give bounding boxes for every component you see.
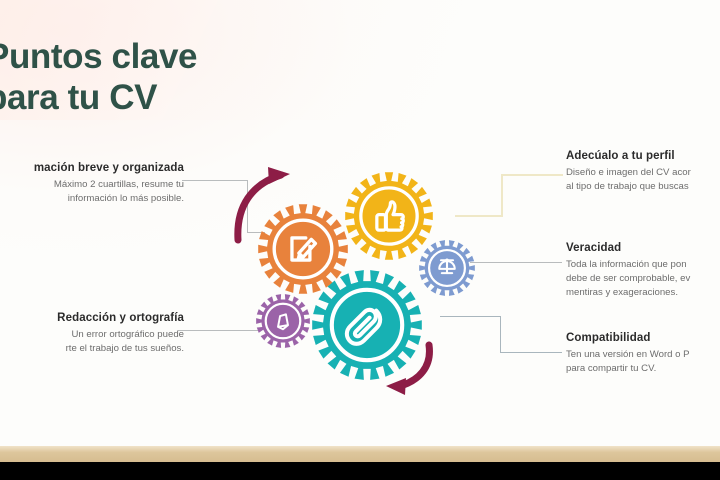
- gear-layer: [256, 172, 475, 380]
- text-block-perfil: Adecúalo a tu perfil Diseño e imagen del…: [566, 150, 720, 194]
- text-block-veracidad-heading: Veracidad: [566, 242, 720, 254]
- letterbox-bottom: [0, 462, 720, 480]
- gear-teal-paperclip[interactable]: [312, 270, 422, 380]
- text-block-perfil-heading: Adecúalo a tu perfil: [566, 150, 720, 162]
- text-block-veracidad-line2: debe de ser comprobable, ev: [566, 272, 720, 286]
- text-block-compatibilidad: Compatibilidad Ten una versión en Word o…: [566, 332, 720, 376]
- text-block-redaccion-heading: Redacción y ortografía: [0, 312, 184, 324]
- text-block-redaccion-line1: Un error ortográfico puede: [0, 328, 184, 342]
- text-block-informacion-heading: mación breve y organizada: [0, 162, 184, 174]
- text-block-informacion: mación breve y organizada Máximo 2 cuart…: [0, 162, 184, 206]
- gear-blue-scales[interactable]: [419, 240, 475, 296]
- slide-bottom-band: [0, 446, 720, 462]
- gear-body: [256, 294, 310, 348]
- text-block-informacion-line2: información lo más posible.: [0, 192, 184, 206]
- text-block-informacion-line1: Máximo 2 cuartillas, resume tu: [0, 178, 184, 192]
- gear-body: [345, 172, 433, 260]
- text-block-veracidad-line1: Toda la información que pon: [566, 258, 720, 272]
- slide-canvas: Puntos clave para tu CV: [0, 0, 720, 452]
- gear-yellow-thumbs-up[interactable]: [345, 172, 433, 260]
- gear-orange-edit-square[interactable]: [258, 204, 348, 294]
- gear-purple-pencil[interactable]: [256, 294, 310, 348]
- text-block-compatibilidad-line1: Ten una versión en Word o P: [566, 348, 720, 362]
- gear-diagram: [0, 0, 720, 452]
- text-block-perfil-line1: Diseño e imagen del CV acor: [566, 166, 720, 180]
- gear-body: [312, 270, 422, 380]
- text-block-redaccion-line2: rte el trabajo de tus sueños.: [0, 342, 184, 356]
- screenshot-stage: Puntos clave para tu CV: [0, 0, 720, 480]
- text-block-redaccion: Redacción y ortografía Un error ortográf…: [0, 312, 184, 356]
- text-block-compatibilidad-line2: para compartir tu CV.: [566, 362, 720, 376]
- text-block-compatibilidad-heading: Compatibilidad: [566, 332, 720, 344]
- text-block-veracidad-line3: mentiras y exageraciones.: [566, 286, 720, 300]
- text-block-veracidad: Veracidad Toda la información que pon de…: [566, 242, 720, 300]
- text-block-perfil-line2: al tipo de trabajo que buscas: [566, 180, 720, 194]
